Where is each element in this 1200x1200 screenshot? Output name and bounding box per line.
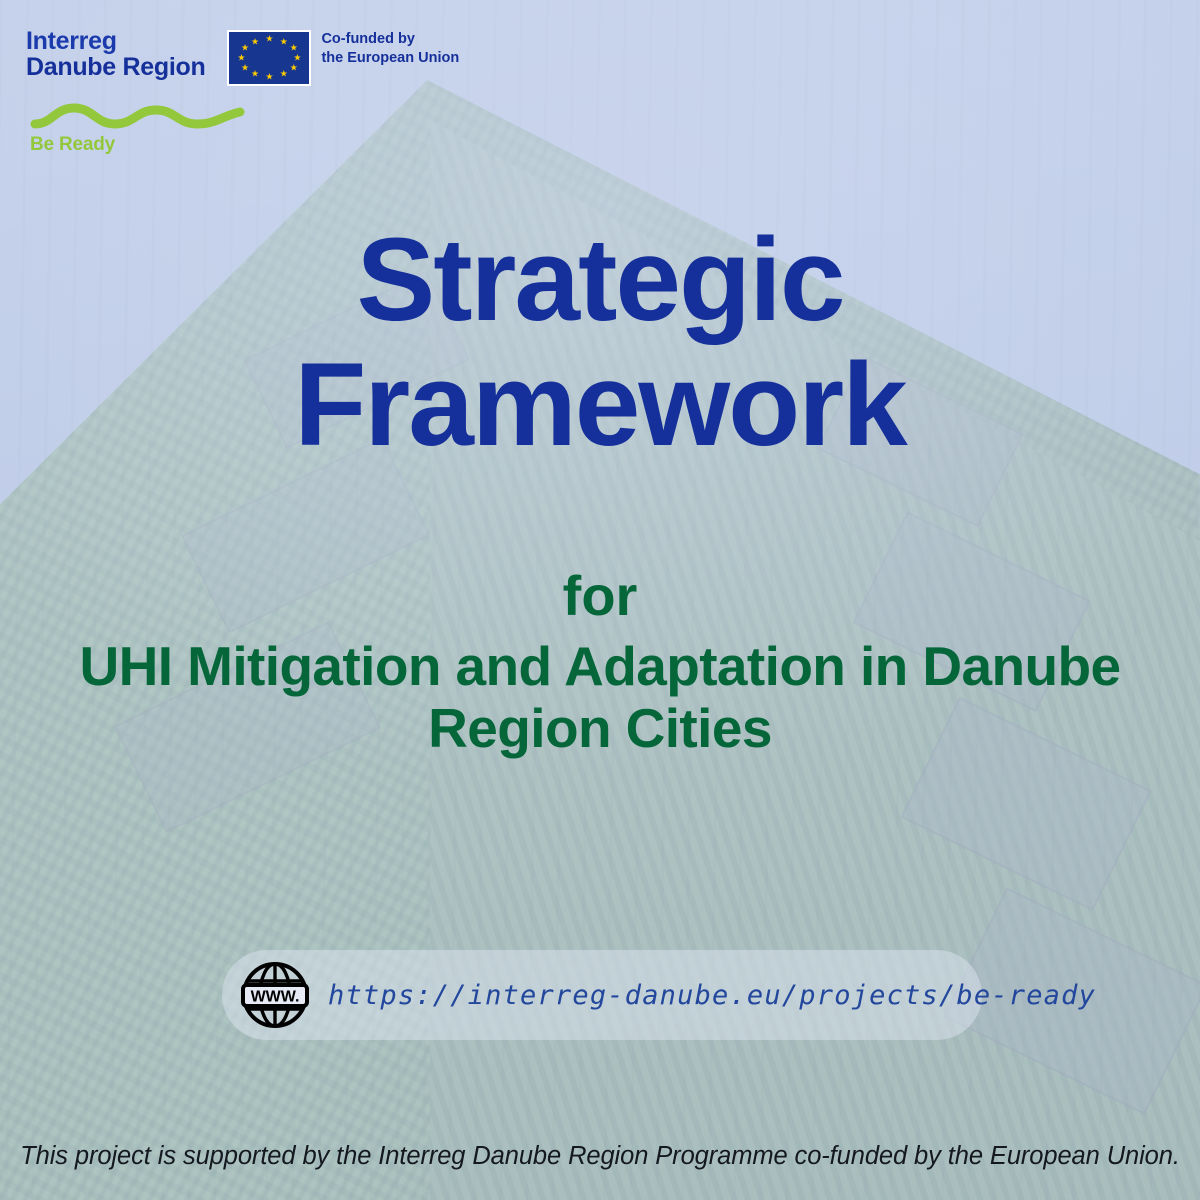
eu-flag-icon: ★ ★ ★ ★ ★ ★ ★ ★ ★ ★ ★ ★ bbox=[227, 30, 311, 86]
page-subtitle-line2: Region Cities bbox=[22, 698, 1178, 760]
page-subtitle: UHI Mitigation and Adaptation in Danube … bbox=[0, 636, 1200, 759]
funding-disclaimer: This project is supported by the Interre… bbox=[0, 1142, 1200, 1171]
eu-cofunding-logo: ★ ★ ★ ★ ★ ★ ★ ★ ★ ★ ★ ★ Co-funded by the… bbox=[227, 28, 459, 86]
be-ready-label: Be Ready bbox=[30, 134, 260, 156]
interreg-logo-line1: Interreg bbox=[26, 28, 205, 54]
interreg-danube-region-logo: Interreg Danube Region bbox=[26, 28, 205, 80]
page-title-line2: Framework bbox=[0, 347, 1200, 464]
www-globe-icon: WWW. bbox=[238, 958, 312, 1032]
eu-cofunding-text: Co-funded by the European Union bbox=[321, 30, 459, 67]
subtitle-connector: for bbox=[0, 568, 1200, 624]
green-wave-squiggle-icon bbox=[30, 100, 245, 132]
website-url-bar[interactable]: WWW. https://interreg-danube.eu/projects… bbox=[222, 950, 982, 1040]
be-ready-logo: Be Ready bbox=[30, 100, 260, 156]
website-url-text[interactable]: https://interreg-danube.eu/projects/be-r… bbox=[328, 980, 1096, 1011]
page-title: Strategic Framework bbox=[0, 222, 1200, 464]
logo-bar: Interreg Danube Region ★ ★ ★ ★ ★ ★ ★ ★ ★… bbox=[26, 28, 459, 86]
page-title-line1: Strategic bbox=[357, 214, 844, 346]
page-subtitle-line1: UHI Mitigation and Adaptation in Danube bbox=[22, 636, 1178, 698]
eu-cofunding-line1: Co-funded by bbox=[321, 30, 459, 49]
poster-canvas: Interreg Danube Region ★ ★ ★ ★ ★ ★ ★ ★ ★… bbox=[0, 0, 1200, 1200]
eu-cofunding-line2: the European Union bbox=[321, 49, 459, 68]
interreg-logo-line2: Danube Region bbox=[26, 54, 205, 80]
svg-text:WWW.: WWW. bbox=[251, 989, 300, 1006]
